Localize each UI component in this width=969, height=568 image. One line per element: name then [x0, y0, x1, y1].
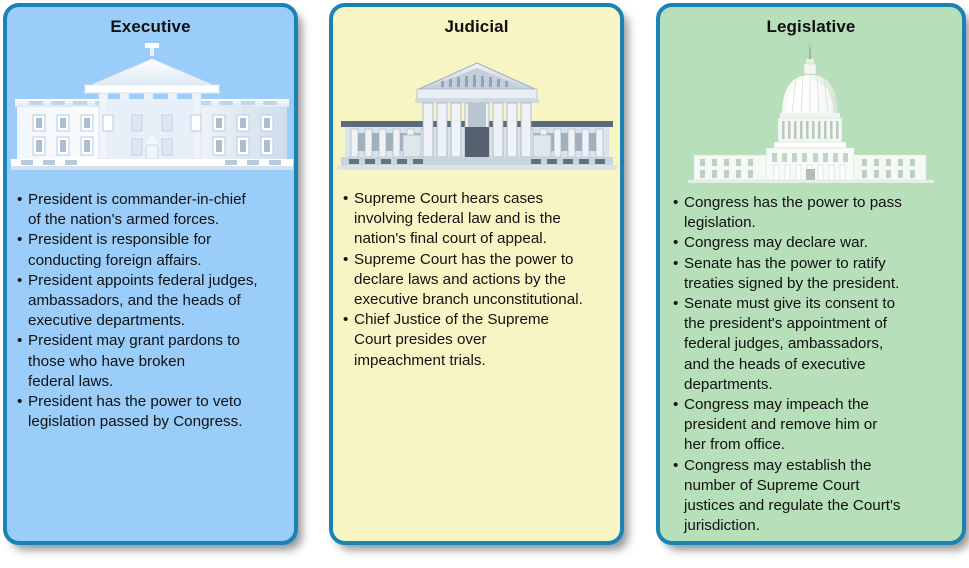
list-item: Chief Justice of the Supreme Court presi… — [343, 310, 615, 371]
bullet-list-legislative: Congress has the power to pass legislati… — [673, 193, 953, 536]
panel-legislative: Legislative — [656, 3, 966, 545]
list-item: Congress has the power to pass legislati… — [673, 193, 953, 233]
list-item: Senate has the power to ratify treaties … — [673, 254, 953, 294]
bullet-list-executive: President is commander-in-chief of the n… — [17, 190, 293, 432]
list-item: President may grant pardons to those who… — [17, 331, 293, 392]
capitol-building-illustration — [660, 41, 962, 183]
list-item: President is responsible for conducting … — [17, 230, 293, 270]
list-item: Senate must give its consent to the pres… — [673, 294, 953, 395]
list-item: President appoints federal judges, ambas… — [17, 271, 293, 332]
white-house-illustration — [7, 39, 294, 179]
list-item: Congress may impeach the president and r… — [673, 395, 953, 456]
panel-title-legislative: Legislative — [660, 17, 962, 37]
list-item: Congress may establish the number of Sup… — [673, 456, 953, 537]
panel-title-executive: Executive — [7, 17, 294, 37]
list-item: Supreme Court hears cases involving fede… — [343, 189, 615, 250]
supreme-court-illustration — [333, 51, 620, 179]
list-item: Supreme Court has the power to declare l… — [343, 250, 615, 311]
list-item: Congress may declare war. — [673, 233, 953, 253]
panel-judicial: Judicial — [329, 3, 624, 545]
panel-executive: Executive — [3, 3, 298, 545]
panel-title-judicial: Judicial — [333, 17, 620, 37]
bullet-list-judicial: Supreme Court hears cases involving fede… — [343, 189, 615, 371]
three-branches-diagram: Executive — [0, 0, 969, 568]
list-item: President has the power to veto legislat… — [17, 392, 293, 432]
list-item: President is commander-in-chief of the n… — [17, 190, 293, 230]
